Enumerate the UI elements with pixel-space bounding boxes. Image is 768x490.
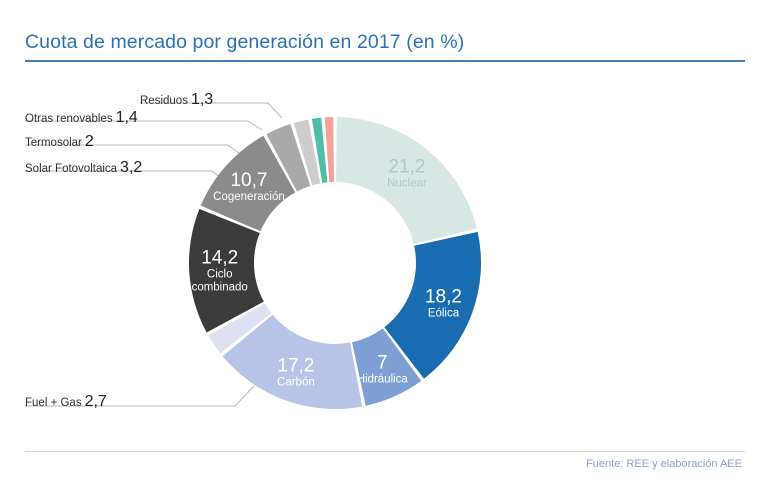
callout-label: Otras renovables (25, 113, 113, 125)
slice-label: Eólica (428, 308, 460, 320)
slice-value: 10,7 (230, 170, 267, 191)
callout-value: 1,4 (116, 109, 138, 126)
slice-label: Carbón (277, 377, 315, 389)
callout-termosolar: Termosolar2 (25, 134, 94, 150)
callout-value: 1,3 (191, 91, 213, 108)
slice-label: Cogeneración (213, 191, 285, 203)
slice-label: combinado (192, 281, 248, 293)
slice-value: 14,2 (201, 247, 238, 268)
slice-value: 17,2 (277, 356, 314, 377)
callout-solar-fotovoltaica: Solar Fotovoltaica3,2 (25, 160, 142, 176)
callout-label: Residuos (140, 95, 188, 107)
callout-label: Termosolar (25, 137, 82, 149)
slice-label: Nuclear (387, 178, 427, 190)
slice-label: Ciclo (207, 268, 233, 280)
footer-divider (25, 451, 745, 452)
slice-value: 7 (377, 352, 388, 373)
callout-residuos: Residuos1,3 (140, 92, 213, 108)
source-credit: Fuente: REE y elaboración AEE (586, 458, 742, 470)
callout-value: 2,7 (85, 393, 107, 410)
callout-otras-renovables: Otras renovables1,4 (25, 110, 138, 126)
donut-chart: 21,2Nuclear18,2Eólica7Hidráulica17,2Carb… (0, 0, 768, 490)
slice-label: Hidráulica (357, 373, 409, 385)
callout-value: 2 (85, 133, 94, 150)
chart-canvas: Cuota de mercado por generación en 2017 … (0, 0, 768, 490)
callout-label: Fuel + Gas (25, 397, 82, 409)
callout-fuel-gas: Fuel + Gas2,7 (25, 394, 107, 410)
slice-value: 21,2 (388, 157, 425, 178)
slice-value: 18,2 (425, 287, 462, 308)
callout-label: Solar Fotovoltaica (25, 163, 117, 175)
callout-value: 3,2 (120, 159, 142, 176)
